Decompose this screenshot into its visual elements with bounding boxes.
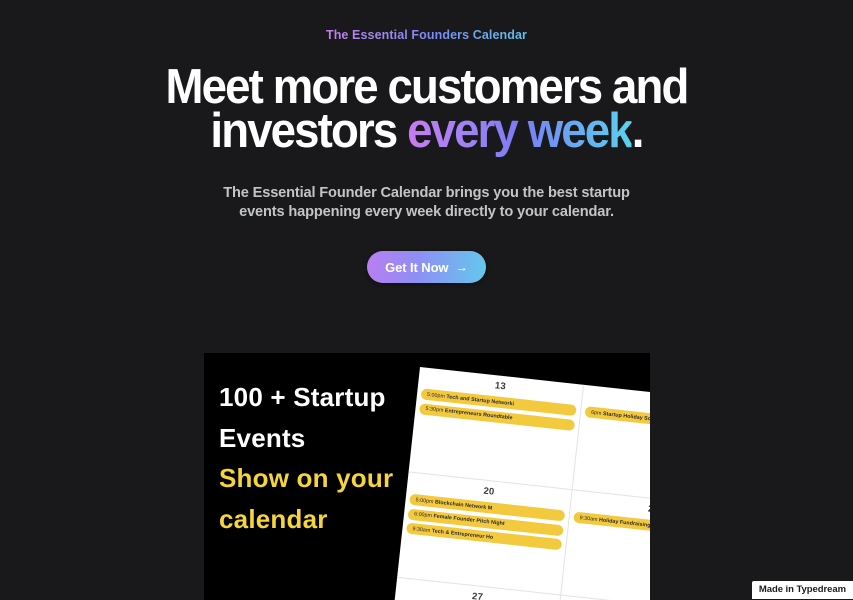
hero-section: The Essential Founders Calendar Meet mor… <box>0 0 853 283</box>
calendar-event-title: Entrepreneurs Roundtable <box>445 408 513 421</box>
hero-subheading: The Essential Founder Calendar brings yo… <box>212 184 642 222</box>
calendar-event-title: Tech and Startup Networki <box>446 394 514 407</box>
calendar-event-title: Blockchain Network M <box>435 499 493 511</box>
calendar-event-title: Female Founder Pitch Night <box>433 513 505 527</box>
feature-line-2: Events <box>219 423 305 453</box>
arrow-right-icon: → <box>455 261 467 274</box>
calendar-event-time: 5:00pm <box>427 391 446 399</box>
calendar-event-title: Tech & Entrepreneur Ho <box>432 528 494 541</box>
calendar-day-cell: 13 5:00pm Tech and Startup Networki 5:30… <box>409 367 584 490</box>
get-it-now-button[interactable]: Get It Now → <box>367 251 486 283</box>
headline-line-2-plain: investors <box>210 104 407 158</box>
calendar-day-cell: 14 6pm Startup Holiday Soiree <box>573 385 650 508</box>
calendar-illustration: 13 5:00pm Tech and Startup Networki 5:30… <box>386 367 650 600</box>
calendar-event: 9:30am Holiday Fundraising h <box>573 512 650 540</box>
headline-line-2-gradient: every week <box>407 104 632 158</box>
calendar-event-time: 5:30pm <box>425 406 444 414</box>
calendar-event-time: 9:30am <box>579 515 598 523</box>
feature-line-3: Show on your <box>219 463 393 493</box>
cta-container: Get It Now → <box>0 251 853 283</box>
feature-heading: 100 + Startup Events Show on your calend… <box>219 377 419 539</box>
page-title: Meet more customers and investors every … <box>30 65 823 153</box>
feature-line-1: 100 + Startup <box>219 382 386 412</box>
calendar-event: 6pm Startup Holiday Soiree <box>585 406 650 434</box>
cta-label: Get It Now <box>385 260 448 275</box>
hero-eyebrow: The Essential Founders Calendar <box>326 28 527 42</box>
calendar-event-title: Holiday Fundraising h <box>599 517 650 529</box>
calendar-day-cell: 20 5:00pm Blockchain Network M 6:00pm Fe… <box>397 472 572 595</box>
feature-line-4: calendar <box>219 504 328 534</box>
calendar-event-title: Startup Holiday Soiree <box>603 411 650 423</box>
headline-period: . <box>632 104 643 158</box>
calendar-day-cell: 21 9:30am Holiday Fundraising h <box>561 490 650 600</box>
calendar-event-time: 6pm <box>591 409 602 416</box>
made-in-typedream-badge[interactable]: Made in Typedream <box>752 581 853 599</box>
landing-page: The Essential Founders Calendar Meet mor… <box>0 0 853 600</box>
feature-card: 13 5:00pm Tech and Startup Networki 5:30… <box>204 353 650 600</box>
